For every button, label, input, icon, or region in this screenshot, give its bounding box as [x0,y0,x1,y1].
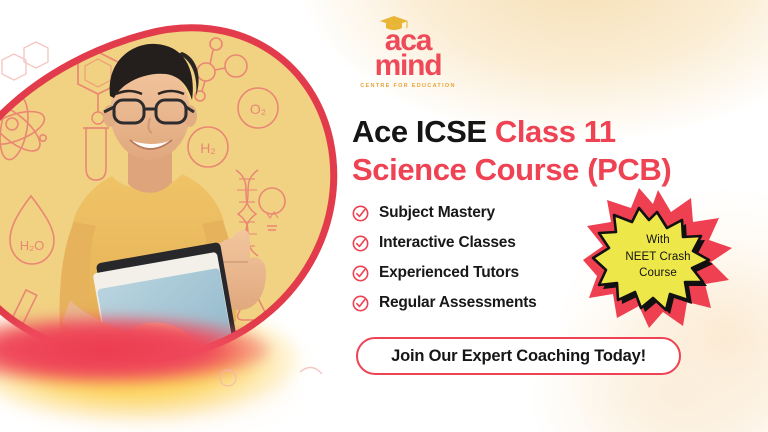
list-item-label: Subject Mastery [379,204,495,222]
check-circle-icon [352,295,369,312]
list-item: Interactive Classes [352,229,622,257]
logo-tagline: CENTRE FOR EDUCATION [353,83,463,89]
svg-text:H₂: H₂ [200,140,216,156]
svg-text:O₂: O₂ [250,101,266,117]
headline-part-red: Class 11 [495,114,616,149]
list-item: Experienced Tutors [352,259,622,287]
starburst-icon [583,188,733,330]
check-circle-icon [352,205,369,222]
headline-part-dark: Ace ICSE [352,114,495,149]
list-item: Subject Mastery [352,199,622,227]
check-circle-icon [352,235,369,252]
check-circle-icon [352,265,369,282]
neet-crash-course-badge: With NEET Crash Course [583,188,733,330]
logo-line-2: mind [353,53,463,78]
promotional-banner: H₂O O₂ H₂ [0,0,768,432]
brand-logo[interactable]: aca mind CENTRE FOR EDUCATION [353,28,463,89]
list-item-label: Experienced Tutors [379,264,519,282]
svg-text:H₂O: H₂O [20,238,45,253]
cta-button[interactable]: Join Our Expert Coaching Today! [356,337,681,375]
headline-line-1: Ace ICSE Class 11 [352,113,752,151]
feature-list: Subject Mastery Interactive Classes Expe… [352,199,622,319]
list-item-label: Interactive Classes [379,234,516,252]
logo-wordmark: aca mind [353,28,463,78]
list-item-label: Regular Assessments [379,294,537,312]
list-item: Regular Assessments [352,289,622,317]
content-column: aca mind CENTRE FOR EDUCATION Ace ICSE C… [345,0,768,432]
hero-image-area: H₂O O₂ H₂ [0,0,345,432]
page-title: Ace ICSE Class 11 Science Course (PCB) [352,113,752,189]
headline-line-2: Science Course (PCB) [352,151,752,189]
graduation-cap-icon [379,15,409,32]
